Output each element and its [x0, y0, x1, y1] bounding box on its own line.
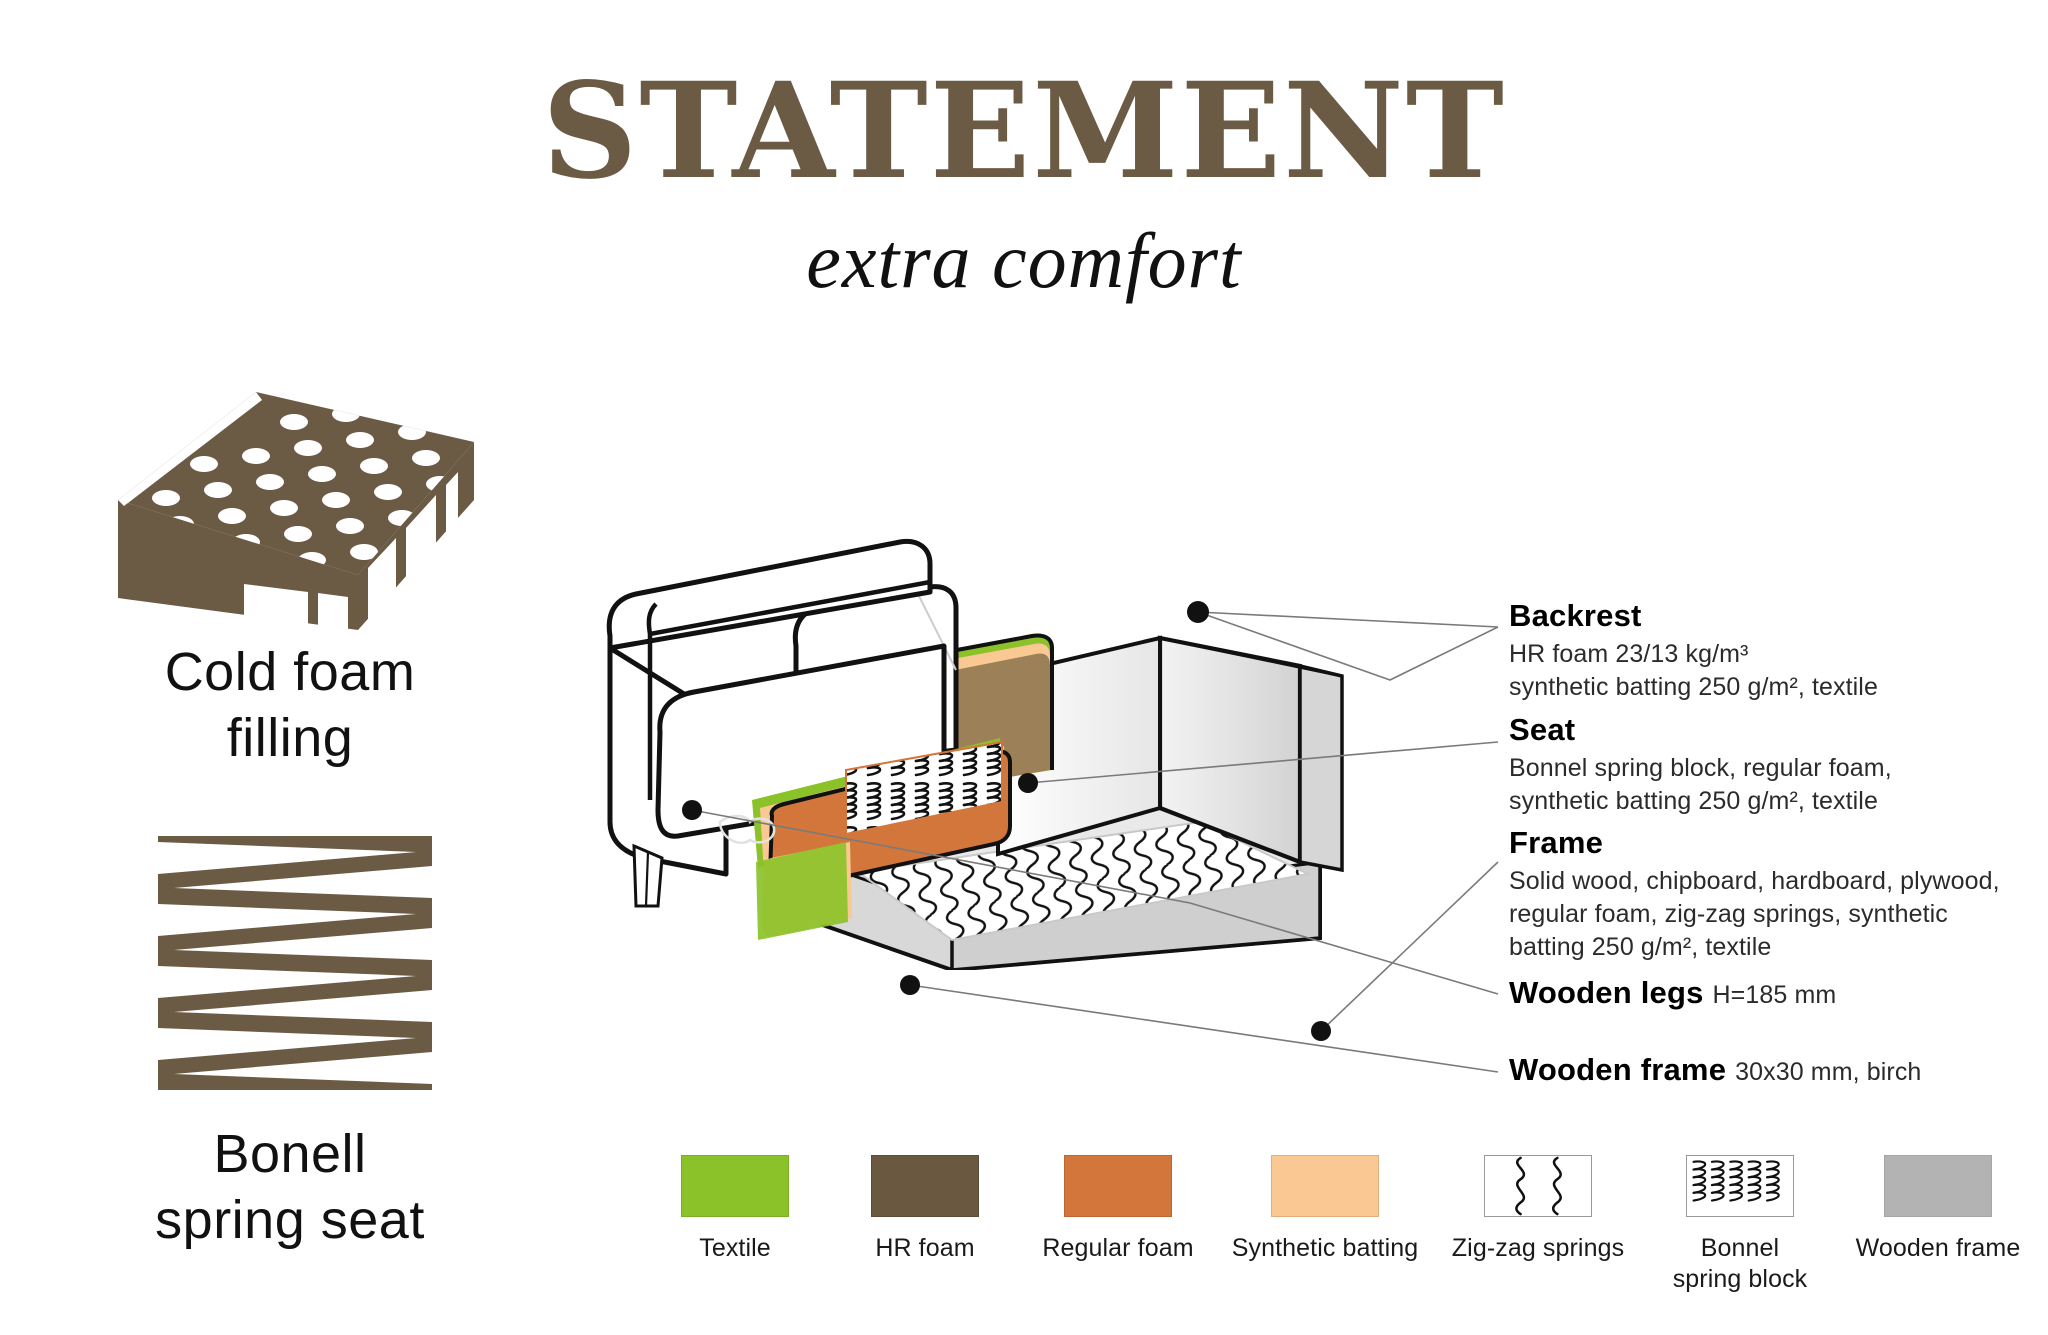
leader-dot-wooden-frame	[900, 975, 920, 995]
page-subtitle: extra comfort	[0, 222, 2048, 300]
cold-foam-label-line1: Cold foam	[40, 640, 540, 706]
cold-foam-block-icon	[96, 330, 496, 630]
callout-backrest-line-2: synthetic batting 250 g/m², textile	[1509, 671, 1878, 704]
legend-swatch-regular-foam	[1064, 1155, 1172, 1217]
callout-frame-line-2: regular foam, zig-zag springs, synthetic	[1509, 898, 2000, 931]
legend-label-bonnel-spring-block: Bonnel spring block	[1642, 1233, 1838, 1296]
callout-seat-line-1: Bonnel spring block, regular foam,	[1509, 752, 1892, 785]
leader-dot-frame	[1311, 1021, 1331, 1041]
legend-item-bonnel-spring-block: Bonnel spring block	[1642, 1155, 1838, 1296]
callout-wooden-legs-value: H=185 mm	[1713, 981, 1837, 1010]
legend-label-hr-foam: HR foam	[830, 1233, 1020, 1264]
legend-item-textile: Textile	[640, 1155, 830, 1264]
page-title: STATEMENT	[0, 66, 2048, 198]
callout-wooden-frame-value: 30x30 mm, birch	[1735, 1058, 1921, 1087]
callout-frame-title: Frame	[1509, 825, 2000, 862]
callout-backrest: Backrest HR foam 23/13 kg/m³ synthetic b…	[1509, 598, 1878, 704]
legend-swatch-textile	[681, 1155, 789, 1217]
legend-swatch-zig-zag-springs	[1484, 1155, 1592, 1217]
legend-label-synthetic-batting: Synthetic batting	[1216, 1233, 1434, 1264]
callout-seat: Seat Bonnel spring block, regular foam, …	[1509, 712, 1892, 818]
bonell-spring-label: Bonell spring seat	[20, 1122, 560, 1254]
callout-seat-title: Seat	[1509, 712, 1892, 749]
legend-item-zig-zag-springs: Zig-zag springs	[1434, 1155, 1642, 1264]
legend-item-wooden-frame: Wooden frame	[1838, 1155, 2038, 1264]
callout-wooden-frame-title: Wooden frame	[1509, 1052, 1726, 1089]
cold-foam-label-line2: filling	[40, 706, 540, 772]
legend-label-textile: Textile	[640, 1233, 830, 1264]
callout-seat-line-2: synthetic batting 250 g/m², textile	[1509, 785, 1892, 818]
sofa-cutaway-illustration	[600, 470, 1450, 970]
legend-item-hr-foam: HR foam	[830, 1155, 1020, 1264]
legend-swatch-bonnel-spring-block	[1686, 1155, 1794, 1217]
callout-backrest-line-1: HR foam 23/13 kg/m³	[1509, 638, 1878, 671]
callout-frame-line-1: Solid wood, chipboard, hardboard, plywoo…	[1509, 865, 2000, 898]
legend-item-regular-foam: Regular foam	[1020, 1155, 1216, 1264]
callout-frame: Frame Solid wood, chipboard, hardboard, …	[1509, 825, 2000, 964]
callout-frame-line-3: batting 250 g/m², textile	[1509, 931, 2000, 964]
callout-wooden-frame: Wooden frame 30x30 mm, birch	[1509, 1052, 1921, 1089]
legend-label-zig-zag-springs: Zig-zag springs	[1434, 1233, 1642, 1264]
callout-wooden-legs: Wooden legs H=185 mm	[1509, 975, 1836, 1012]
bonell-label-line1: Bonell	[20, 1122, 560, 1188]
legend-swatch-hr-foam	[871, 1155, 979, 1217]
legend-label-wooden-frame: Wooden frame	[1838, 1233, 2038, 1264]
legend-swatch-synthetic-batting	[1271, 1155, 1379, 1217]
legend: Textile HR foam Regular foam Synthetic b…	[640, 1155, 1980, 1315]
cold-foam-label: Cold foam filling	[40, 640, 540, 772]
legend-label-regular-foam: Regular foam	[1020, 1233, 1216, 1264]
zig-zag-spring-icon	[150, 828, 440, 1098]
callout-backrest-title: Backrest	[1509, 598, 1878, 635]
legend-item-synthetic-batting: Synthetic batting	[1216, 1155, 1434, 1264]
bonell-label-line2: spring seat	[20, 1188, 560, 1254]
legend-swatch-wooden-frame	[1884, 1155, 1992, 1217]
callout-wooden-legs-title: Wooden legs	[1509, 975, 1704, 1012]
